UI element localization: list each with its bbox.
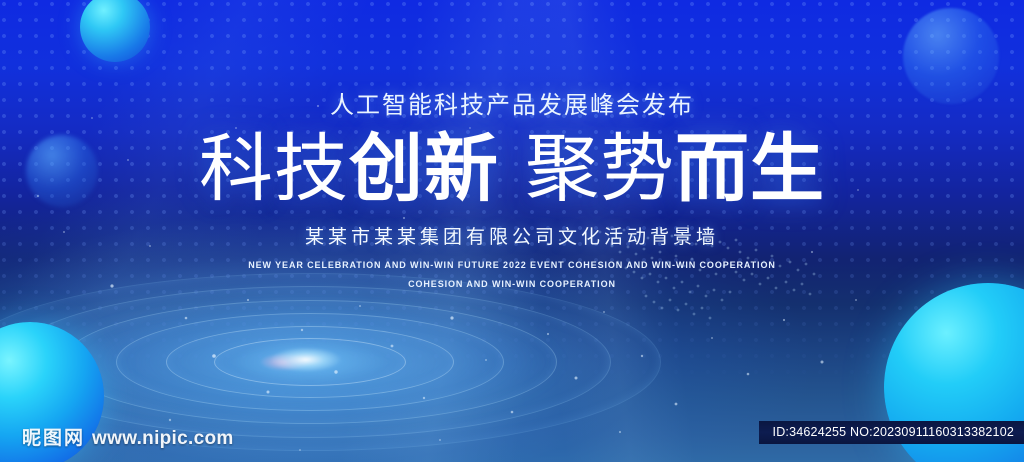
logo-char-2: 图 <box>43 429 62 448</box>
logo-char-3: 网 <box>64 429 83 448</box>
poster-subline: 某某市某某集团有限公司文化活动背景墙 <box>0 222 1024 249</box>
poster-headline: 科技创新聚势而生 <box>0 131 1024 206</box>
poster-eyebrow: 人工智能科技产品发展峰会发布 <box>0 92 1024 121</box>
id-badge: ID:34624255 NO:20230911160313382102 <box>759 421 1024 444</box>
sphere-top-right-icon <box>903 8 999 104</box>
logo-char-1: 昵 <box>22 429 41 448</box>
poster-canvas: 人工智能科技产品发展峰会发布 科技创新聚势而生 某某市某某集团有限公司文化活动背… <box>0 0 1024 462</box>
nipic-logo-icon: 昵图网 <box>22 429 83 448</box>
headline-part-4: 而生 <box>675 127 825 210</box>
poster-text-block: 人工智能科技产品发展峰会发布 科技创新聚势而生 某某市某某集团有限公司文化活动背… <box>0 92 1024 289</box>
headline-part-1: 科技 <box>199 127 349 210</box>
watermark-url: www.nipic.com <box>92 429 234 448</box>
watermark: 昵图网 www.nipic.com <box>22 429 234 448</box>
poster-english-line-1: NEW YEAR CELEBRATION AND WIN-WIN FUTURE … <box>0 260 1024 270</box>
poster-english-line-2: COHESION AND WIN-WIN COOPERATION <box>0 279 1024 289</box>
headline-part-3: 聚势 <box>525 127 675 210</box>
headline-part-2: 创新 <box>349 127 499 210</box>
